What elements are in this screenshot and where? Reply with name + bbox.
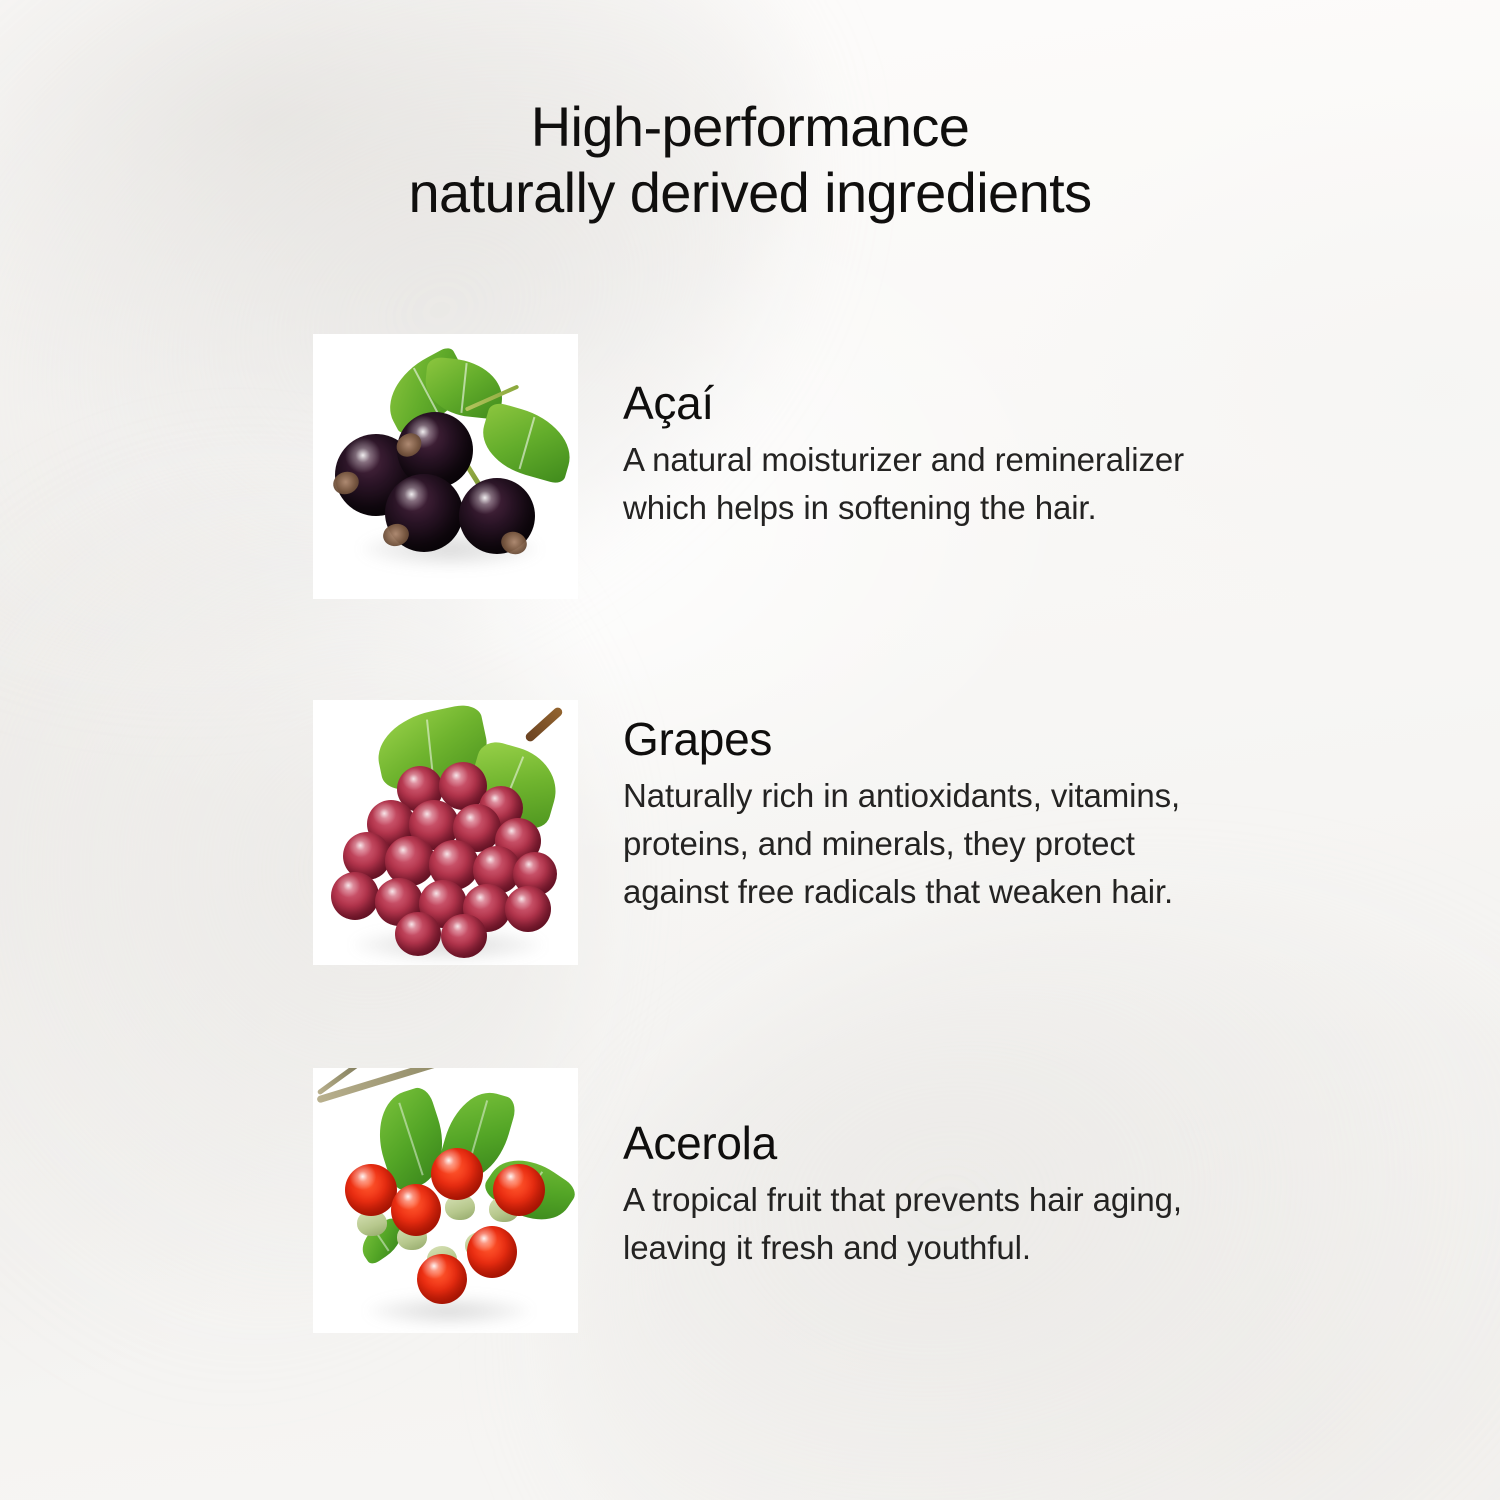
ingredients-infographic: High-performance naturally derived ingre…	[0, 0, 1500, 1500]
headline-line-1: High-performance	[0, 94, 1500, 160]
grape	[331, 872, 379, 920]
grape	[505, 886, 551, 932]
ingredient-title-acerola: Acerola	[623, 1116, 1182, 1170]
grapes-image-tile	[313, 700, 578, 965]
acai-leaf-right	[474, 401, 578, 486]
acerola-berry-bottom-right	[467, 1226, 517, 1278]
ingredient-title-grapes: Grapes	[623, 712, 1180, 766]
acerola-berry-left	[345, 1164, 397, 1216]
ingredient-description-acerola: A tropical fruit that prevents hair agin…	[623, 1176, 1182, 1272]
grape-woody-stem	[524, 706, 564, 743]
grapes-text-block: Grapes Naturally rich in antioxidants, v…	[578, 712, 1180, 916]
acai-desc-line-1: A natural moisturizer and remineralizer	[623, 436, 1184, 484]
acai-text-block: Açaí A natural moisturizer and remineral…	[578, 376, 1184, 532]
acai-berry-bottom-left	[385, 474, 463, 552]
acerola-desc-line-2: leaving it fresh and youthful.	[623, 1224, 1182, 1272]
acai-desc-line-2: which helps in softening the hair.	[623, 484, 1184, 532]
ingredient-row-acerola: Acerola A tropical fruit that prevents h…	[313, 1068, 1313, 1333]
page-title: High-performance naturally derived ingre…	[0, 94, 1500, 226]
grapes-desc-line-3: against free radicals that weaken hair.	[623, 868, 1180, 916]
acerola-berry-mid-left	[391, 1184, 441, 1236]
headline-line-2: naturally derived ingredients	[0, 160, 1500, 226]
acai-berry-bottom-right	[459, 478, 535, 554]
grapes-desc-line-1: Naturally rich in antioxidants, vitamins…	[623, 772, 1180, 820]
grape	[441, 914, 487, 958]
ingredient-row-grapes: Grapes Naturally rich in antioxidants, v…	[313, 700, 1313, 965]
acerola-berry-right	[493, 1164, 545, 1216]
acerola-image-tile	[313, 1068, 578, 1333]
acai-calyx-left	[330, 468, 362, 498]
ingredient-description-grapes: Naturally rich in antioxidants, vitamins…	[623, 772, 1180, 916]
ingredient-title-acai: Açaí	[623, 376, 1184, 430]
grape	[395, 912, 441, 956]
ingredient-description-acai: A natural moisturizer and remineralizer …	[623, 436, 1184, 532]
acai-image-tile	[313, 334, 578, 599]
ingredient-row-acai: Açaí A natural moisturizer and remineral…	[313, 334, 1313, 599]
grapes-desc-line-2: proteins, and minerals, they protect	[623, 820, 1180, 868]
acerola-desc-line-1: A tropical fruit that prevents hair agin…	[623, 1176, 1182, 1224]
acerola-text-block: Acerola A tropical fruit that prevents h…	[578, 1116, 1182, 1272]
acerola-berry-bottom	[417, 1254, 467, 1304]
acerola-berry-top	[431, 1148, 483, 1200]
acai-calyx-top	[392, 429, 426, 462]
